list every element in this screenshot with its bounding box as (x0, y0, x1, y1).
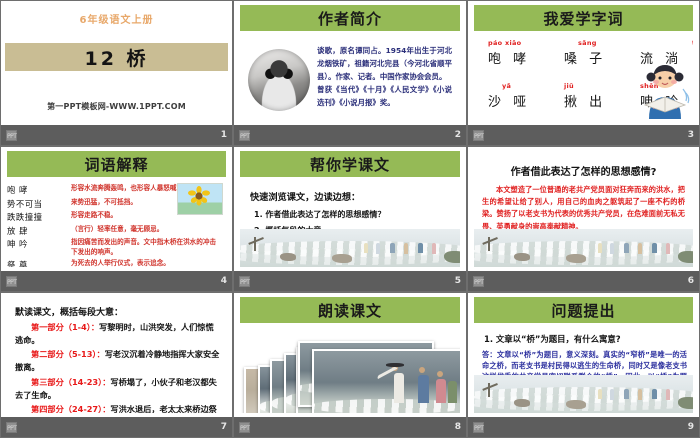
pinyin: sǎng (578, 39, 597, 47)
slide-2-body: 谈歌，原名谭同占。1954年出生于河北龙烟铁矿，祖籍河北完县（今河北省顺平县）。… (240, 33, 460, 121)
glossary-term: 祭 奠 (7, 259, 71, 267)
slide-8[interactable]: 朗读课文 (233, 292, 467, 438)
slide-6-canvas: 作者借此表达了怎样的思想感情? 本文塑造了一位普通的老共产党员面对狂奔而来的洪水… (468, 147, 699, 271)
slide-8-header-title: 朗读课文 (318, 300, 382, 321)
slide-4-footer: PPT 4 (1, 271, 232, 291)
vocab-word: sǎng 嗓 子 (564, 39, 640, 68)
flood-scene-illustration (240, 229, 460, 267)
slide-5-header-title: 帮你学课文 (310, 154, 390, 175)
summary-part: 第四部分（24-27）：写洪水退后，老太太来桥边祭奠她的丈夫和儿子。 (15, 403, 220, 413)
ppt-logo-icon: PPT (6, 422, 17, 433)
slide-6-footer: PPT 6 (468, 271, 699, 291)
sunflower-picture (177, 183, 223, 215)
slide-3[interactable]: 我爱学字词 páo xiāo 咆 哮 sǎng 嗓 子 tǎng 流 淌 (467, 0, 700, 146)
slide-7-canvas: 默读课文，概括每段大意： 第一部分（1-4）：写黎明时，山洪突发，人们惊慌逃命。… (1, 293, 232, 417)
ppt-logo-icon: PPT (6, 276, 17, 287)
slide-3-footer: PPT 3 (468, 125, 699, 145)
slide-1-canvas: 6年级语文上册 12 桥 第一PPT模板网-WWW.1PPT.COM (1, 1, 232, 125)
slide-4[interactable]: 词语解释 (0, 146, 233, 292)
author-portrait (248, 49, 310, 111)
slide-3-header-title: 我爱学字词 (543, 8, 623, 29)
ppt-logo-icon: PPT (473, 422, 484, 433)
slide-3-body: páo xiāo 咆 哮 sǎng 嗓 子 tǎng 流 淌 yǎ 沙 哑 (474, 33, 693, 121)
slide-1-title-band: 12 桥 (5, 43, 228, 71)
slide-5-canvas: 帮你学课文 快速浏览课文，边读边想： 1. 作者借此表达了怎样的思想感情？ 2.… (234, 147, 466, 271)
slide-2-footer: PPT 2 (234, 125, 466, 145)
slide-7[interactable]: 默读课文，概括每段大意： 第一部分（1-4）：写黎明时，山洪突发，人们惊慌逃命。… (0, 292, 233, 438)
slide-6[interactable]: 作者借此表达了怎样的思想感情? 本文塑造了一位普通的老共产党员面对狂奔而来的洪水… (467, 146, 700, 292)
summary-part-label: 第一部分（1-4）： (31, 322, 99, 332)
slide-1[interactable]: 6年级语文上册 12 桥 第一PPT模板网-WWW.1PPT.COM PPT 1 (0, 0, 233, 146)
vocab-word: yǎ 沙 哑 (488, 82, 564, 111)
ppt-logo-icon: PPT (473, 276, 484, 287)
ppt-logo-icon: PPT (239, 276, 250, 287)
summary-part-label: 第二部分（5-13）： (31, 349, 105, 359)
summary-part: 第二部分（5-13）：写老汉沉着冷静地指挥大家安全撤离。 (15, 348, 220, 373)
glossary-definition: 为死去的人举行仪式，表示追念。 (71, 259, 222, 267)
slide-4-header-title: 词语解释 (84, 154, 148, 175)
pinyin: páo xiāo (488, 39, 521, 47)
glossary-definition: （言行）轻率任意，毫无顾忌。 (71, 225, 222, 235)
slide-2-canvas: 作者简介 谈歌，原名谭同占。1954年出生于河北龙烟铁矿，祖籍河北完县（今河北省… (234, 1, 466, 125)
slide-4-body: 咆 哮 形容水流奔腾轰鸣，也形容人暴怒喊叫。 势不可当 来势迅猛，不可抵挡。 跌… (7, 179, 226, 267)
slide-2[interactable]: 作者简介 谈歌，原名谭同占。1954年出生于河北龙烟铁矿，祖籍河北完县（今河北省… (233, 0, 467, 146)
slide-6-number: 6 (688, 276, 694, 286)
slide-3-header-band: 我爱学字词 (474, 5, 693, 31)
slide-6-body: 作者借此表达了怎样的思想感情? 本文塑造了一位普通的老共产党员面对狂奔而来的洪水… (474, 151, 693, 267)
slide-7-number: 7 (221, 422, 227, 432)
slide-9[interactable]: 问题提出 1. 文章以“桥”为题目，有什么寓意? 答：文章以“桥”为题目，意义深… (467, 292, 700, 438)
ppt-logo-icon: PPT (239, 130, 250, 141)
slide-thumbnail-grid: 6年级语文上册 12 桥 第一PPT模板网-WWW.1PPT.COM PPT 1… (0, 0, 700, 438)
ppt-logo-icon: PPT (239, 422, 250, 433)
hanzi: 沙 哑 (488, 95, 530, 110)
summary-part: 第一部分（1-4）：写黎明时，山洪突发，人们惊慌逃命。 (15, 321, 220, 346)
glossary-item: 祭 奠 为死去的人举行仪式，表示追念。 (7, 259, 222, 267)
summary-part: 第三部分（14-23）：写桥塌了，小伙子和老汉都失去了生命。 (15, 376, 220, 401)
slide-1-watermark: 第一PPT模板网-WWW.1PPT.COM (1, 101, 232, 112)
slide-3-canvas: 我爱学字词 páo xiāo 咆 哮 sǎng 嗓 子 tǎng 流 淌 (468, 1, 699, 125)
slide-9-header-title: 问题提出 (551, 300, 615, 321)
slide-6-question-title: 作者借此表达了怎样的思想感情? (474, 163, 693, 178)
slide-9-canvas: 问题提出 1. 文章以“桥”为题目，有什么寓意? 答：文章以“桥”为题目，意义深… (468, 293, 699, 417)
slide-2-header-band: 作者简介 (240, 5, 460, 31)
question-text: 1. 文章以“桥”为题目，有什么寓意? (484, 333, 693, 345)
slide-5-header-band: 帮你学课文 (240, 151, 460, 177)
slide-2-header-title: 作者简介 (318, 8, 382, 29)
slide-5[interactable]: 帮你学课文 快速浏览课文，边读边想： 1. 作者借此表达了怎样的思想感情？ 2.… (233, 146, 467, 292)
reading-question-1: 1. 作者借此表达了怎样的思想感情？ (254, 209, 460, 220)
glossary-item: 呻 吟 指因痛苦而发出的声音。文中指木桥在洪水的冲击下发出的响声。 (7, 238, 222, 258)
hanzi: 咆 哮 (488, 52, 530, 67)
slide-9-footer: PPT 9 (468, 417, 699, 437)
author-bio-paragraph-1: 谈歌，原名谭同占。1954年出生于河北龙烟铁矿，祖籍河北完县（今河北省顺平县）。… (317, 45, 452, 84)
slide-4-number: 4 (221, 276, 227, 286)
slide-8-canvas: 朗读课文 (234, 293, 466, 417)
summary-part-label: 第四部分（24-27）： (31, 404, 110, 413)
slide-9-body: 1. 文章以“桥”为题目，有什么寓意? 答：文章以“桥”为题目，意义深刻。真实的… (474, 325, 693, 413)
glossary-term: 呻 吟 (7, 238, 71, 250)
slide-5-footer: PPT 5 (234, 271, 466, 291)
flood-scene-illustration (474, 375, 693, 413)
slide-1-footer: PPT 1 (1, 125, 232, 145)
author-bio-paragraph-2: 曾获《当代》《十月》《人民文学》《小说选刊》《小说月报》奖。 (317, 84, 452, 110)
slide-8-footer: PPT 8 (234, 417, 466, 437)
author-bio: 谈歌，原名谭同占。1954年出生于河北龙烟铁矿，祖籍河北完县（今河北省顺平县）。… (310, 37, 456, 119)
vocab-word: jiū 揪 出 (564, 82, 640, 111)
ppt-logo-icon: PPT (6, 130, 17, 141)
photo-stack (240, 325, 460, 413)
hanzi: 嗓 子 (564, 52, 606, 67)
summary-part-label: 第三部分（14-23）： (31, 377, 110, 387)
slide-3-number: 3 (688, 130, 694, 140)
slide-9-header-band: 问题提出 (474, 297, 693, 323)
slide-2-number: 2 (455, 130, 461, 140)
reading-instruction: 快速浏览课文，边读边想： (250, 189, 460, 203)
slide-1-number: 1 (221, 130, 227, 140)
vocab-word: páo xiāo 咆 哮 (488, 39, 564, 68)
ppt-logo-icon: PPT (473, 130, 484, 141)
glossary-term: 咆 哮 (7, 184, 71, 196)
slide-5-body: 快速浏览课文，边读边想： 1. 作者借此表达了怎样的思想感情？ 2. 概括每段的… (240, 179, 460, 267)
hanzi: 揪 出 (564, 95, 606, 110)
page-title: 12 桥 (84, 44, 148, 71)
slide-9-number: 9 (688, 422, 694, 432)
slide-1-subtitle: 6年级语文上册 (1, 11, 232, 26)
pinyin: yǎ (502, 82, 511, 90)
glossary-term: 势不可当 (7, 198, 71, 210)
slide-8-header-band: 朗读课文 (240, 297, 460, 323)
glossary-term: 跌跌撞撞 (7, 211, 71, 223)
glossary-item: 放 肆 （言行）轻率任意，毫无顾忌。 (7, 225, 222, 237)
girl-reading-illustration (639, 63, 691, 121)
summary-instruction: 默读课文，概括每段大意： (15, 305, 226, 318)
slide-6-answer-text: 本文塑造了一位普通的老共产党员面对狂奔而来的洪水，把生的希望让给了别人，用自己的… (482, 184, 685, 233)
slide-4-header-band: 词语解释 (7, 151, 226, 177)
slide-8-number: 8 (455, 422, 461, 432)
slide-4-canvas: 词语解释 (1, 147, 232, 271)
slide-5-number: 5 (455, 276, 461, 286)
photo-main (312, 349, 460, 413)
glossary-term: 放 肆 (7, 225, 71, 237)
glossary-definition: 指因痛苦而发出的声音。文中指木桥在洪水的冲击下发出的响声。 (71, 238, 222, 258)
slide-7-footer: PPT 7 (1, 417, 232, 437)
pinyin: tǎng (692, 39, 693, 47)
pinyin: jiū (564, 82, 574, 90)
slide-8-body (240, 325, 460, 413)
flood-scene-illustration (474, 229, 693, 267)
slide-7-body: 默读课文，概括每段大意： 第一部分（1-4）：写黎明时，山洪突发，人们惊慌逃命。… (7, 297, 226, 413)
